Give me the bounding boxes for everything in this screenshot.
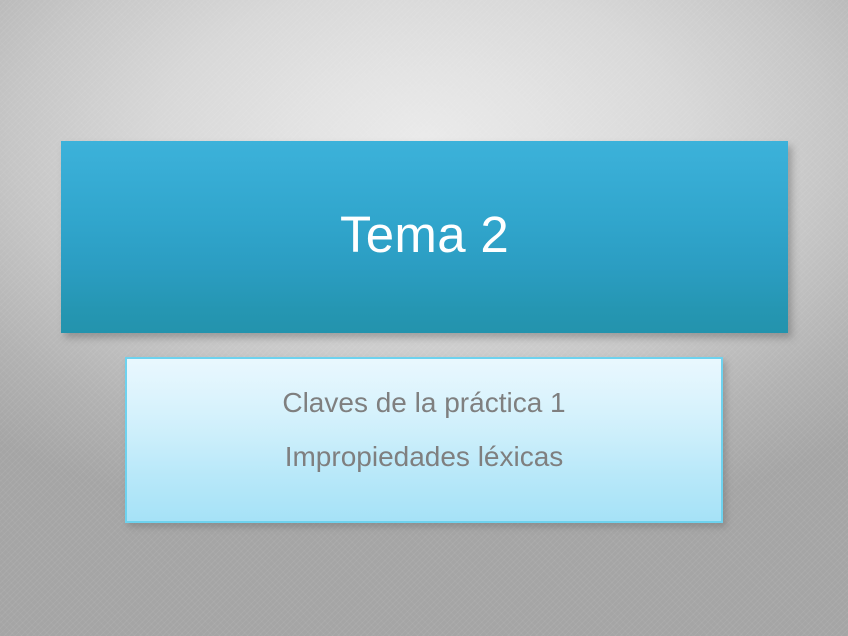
subtitle-line-2: Impropiedades léxicas — [285, 430, 564, 484]
slide-title: Tema 2 — [340, 207, 509, 263]
presentation-slide: Tema 2 Claves de la práctica 1 Impropied… — [0, 0, 848, 636]
subtitle-line-1: Claves de la práctica 1 — [282, 376, 565, 430]
subtitle-placeholder[interactable]: Claves de la práctica 1 Impropiedades lé… — [125, 357, 723, 523]
title-placeholder[interactable]: Tema 2 — [61, 141, 788, 333]
